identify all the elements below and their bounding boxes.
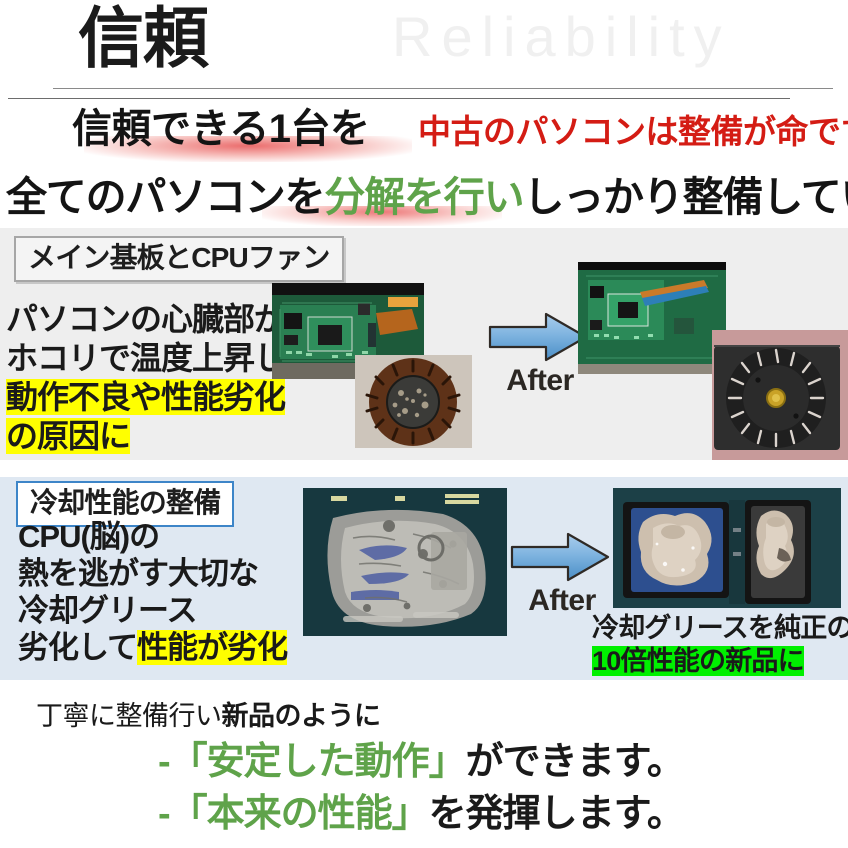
statement-part-1: 全てのパソコンを xyxy=(6,174,324,220)
section-1-before-dusty-fan-photo xyxy=(355,355,472,448)
footer-line-3: -「本来の性能」を発揮します。 xyxy=(158,790,684,838)
section-2-result-line-1: 冷却グリースを純正の xyxy=(592,612,848,645)
footer-line-1: 丁寧に整備行い新品のように xyxy=(36,698,381,734)
divider-line-bottom xyxy=(8,98,790,99)
footer-line-1-part-a: 丁寧に整備行い xyxy=(36,701,222,731)
section-1-after-clean-fan-photo xyxy=(712,330,848,460)
right-arrow-icon xyxy=(486,310,590,364)
section-2-line-1: CPU(脳)の xyxy=(18,518,287,555)
footer-summary: 丁寧に整備行い新品のように -「安定した動作」ができます。 -「本来の性能」を発… xyxy=(0,690,848,848)
footer-line-1-part-b: 新品のように xyxy=(222,701,381,731)
footer-line-3-dash: - xyxy=(158,793,170,835)
statement-highlight: 分解を行い xyxy=(324,174,523,220)
footer-line-2-dash: - xyxy=(158,741,170,783)
section-2-line-4-highlight: 性能が劣化 xyxy=(137,630,287,665)
section-2-line-2: 熱を逃がす大切な xyxy=(18,555,287,592)
clogged-fan-illustration xyxy=(355,355,472,448)
section-2-line-3: 冷却グリース xyxy=(18,592,287,629)
section-1-line-2: ホコリで温度上昇し xyxy=(6,339,285,378)
section-2-copy: CPU(脳)の 熱を逃がす大切な 冷却グリース 劣化して性能が劣化 xyxy=(18,518,287,666)
section-2-before-paste-photo xyxy=(303,488,507,636)
subheading-text: 信頼できる1台を xyxy=(72,104,369,154)
fresh-thermal-paste-illustration xyxy=(613,488,841,608)
right-arrow-icon-2 xyxy=(508,530,612,584)
section-2-line-4: 劣化して xyxy=(18,630,137,665)
section-1-after-motherboard-photo xyxy=(578,262,726,374)
divider-line-top xyxy=(53,88,833,89)
motherboard-clean-illustration xyxy=(578,262,726,374)
section-1-line-4: の原因に xyxy=(6,418,130,454)
hero-header: Reliability 信頼 xyxy=(0,0,848,100)
section-2-after-arrow-group: After xyxy=(508,530,616,618)
statement-row: 全てのパソコンを分解を行いしっかり整備しています。 xyxy=(0,172,848,224)
footer-line-2: -「安定した動作」ができます。 xyxy=(158,738,684,786)
section-1-line-3: 動作不良や性能劣化 xyxy=(6,379,285,415)
page-title: 信頼 xyxy=(78,1,208,75)
section-2-result-line-2: 10倍性能の新品に xyxy=(592,646,804,676)
statement-part-2: しっかり整備しています。 xyxy=(523,174,848,220)
statement-text: 全てのパソコンを分解を行いしっかり整備しています。 xyxy=(6,172,848,222)
clean-fan-illustration xyxy=(712,330,848,460)
reliability-watermark-text: Reliability xyxy=(392,2,731,72)
section-1-heading-chip: メイン基板とCPUファン xyxy=(14,236,344,282)
section-1-copy: パソコンの心臓部が ホコリで温度上昇し 動作不良や性能劣化 の原因に xyxy=(6,300,285,456)
footer-line-3-tail: を発揮します。 xyxy=(429,793,684,835)
section-2-result-copy: 冷却グリースを純正の 10倍性能の新品に xyxy=(592,612,848,678)
footer-line-3-quote: 「本来の性能」 xyxy=(170,793,429,835)
subheading-row: 信頼できる1台を 中古のパソコンは整備が命です。 xyxy=(0,104,848,162)
red-tagline-text: 中古のパソコンは整備が命です。 xyxy=(418,110,848,154)
dried-thermal-paste-illustration xyxy=(303,488,507,636)
section-2-after-paste-photo xyxy=(613,488,841,608)
section-1-line-1: パソコンの心臓部が xyxy=(6,300,285,339)
footer-line-2-quote: 「安定した動作」 xyxy=(170,741,466,783)
footer-line-2-tail: ができます。 xyxy=(466,741,684,783)
